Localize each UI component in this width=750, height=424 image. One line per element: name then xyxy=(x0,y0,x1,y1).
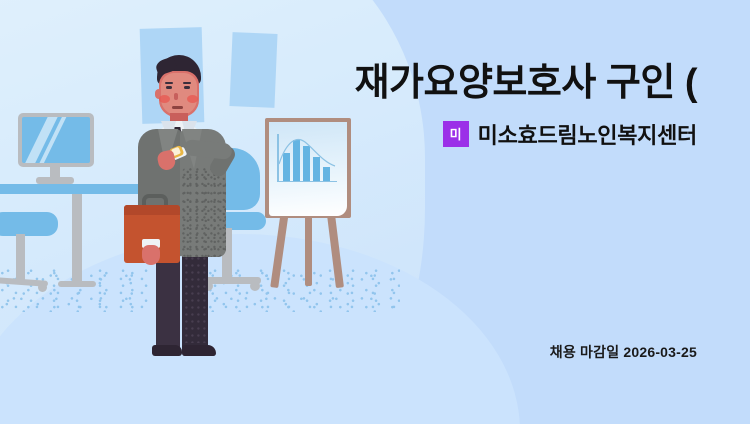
hand-holding-briefcase xyxy=(142,245,160,265)
organization-row: 미 미소효드림노인복지센터 xyxy=(0,118,697,150)
monitor-stand-foot xyxy=(36,177,74,184)
organization-name: 미소효드림노인복지센터 xyxy=(478,118,697,150)
office-chair-left-seat xyxy=(0,212,58,236)
office-chair-left-post xyxy=(16,234,25,282)
banner-text-block: 재가요양보호사 구인 ( 미 미소효드림노인복지센터 xyxy=(0,62,750,150)
page-title: 재가요양보호사 구인 ( xyxy=(0,62,697,105)
shoe-left xyxy=(152,345,182,356)
leg-left xyxy=(156,251,180,349)
desk-foot xyxy=(58,281,96,287)
desk-leg xyxy=(72,194,82,286)
organization-badge: 미 xyxy=(443,121,469,147)
job-posting-banner: 재가요양보호사 구인 ( 미 미소효드림노인복지센터 채용 마감일 2026-0… xyxy=(0,0,750,424)
deadline-text: 채용 마감일 2026-03-25 xyxy=(550,342,697,362)
shoe-right xyxy=(182,345,216,356)
suit-texture xyxy=(182,167,226,257)
office-chair-left-wheel xyxy=(38,283,47,292)
trouser-texture xyxy=(184,255,206,343)
briefcase-lid xyxy=(124,205,180,215)
